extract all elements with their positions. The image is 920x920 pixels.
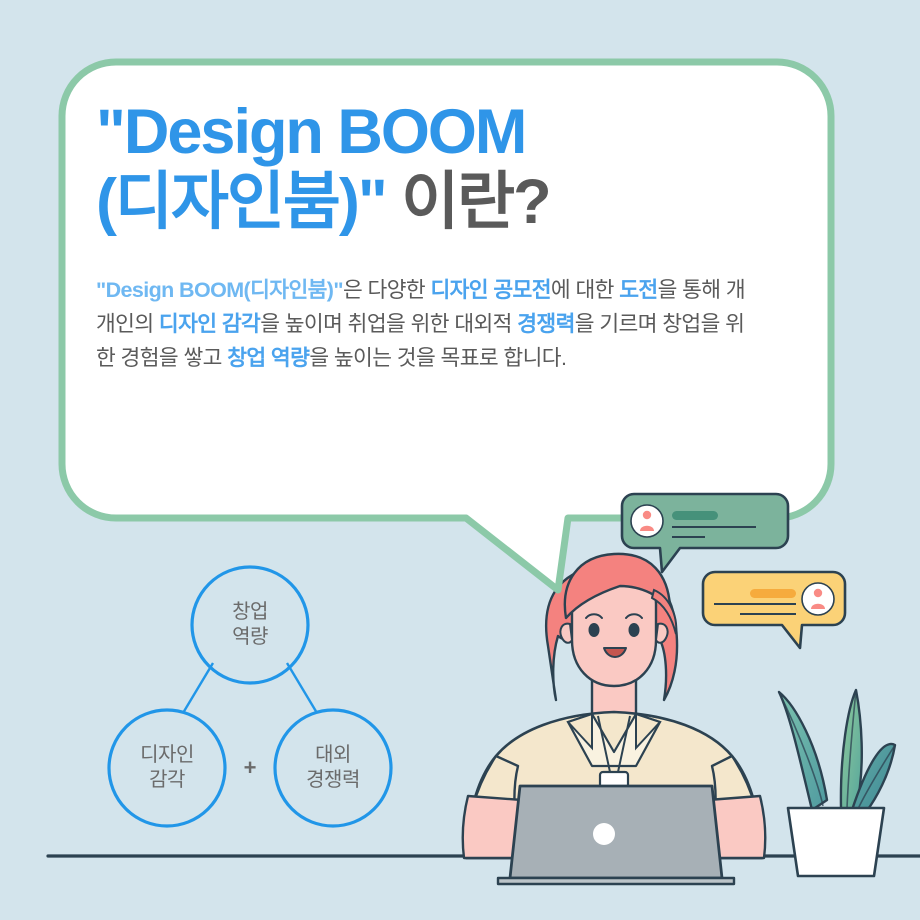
label-design-sense-line1: 디자인 bbox=[107, 743, 227, 768]
page-title-line2: (디자인붐)" 이란? bbox=[96, 170, 760, 234]
body-paragraph: "Design BOOM(디자인붐)"은 다양한 디자인 공모전에 대한 도전을… bbox=[96, 273, 751, 375]
label-startup-capability-line2: 역량 bbox=[190, 625, 310, 650]
label-startup-capability: 창업 역량 bbox=[190, 600, 310, 650]
body-seg-4: 에 대한 bbox=[551, 278, 619, 302]
page-title: "Design BOOM bbox=[96, 100, 760, 164]
label-design-sense: 디자인 감각 bbox=[107, 743, 227, 793]
label-external-competitiveness-line1: 대외 bbox=[273, 743, 393, 768]
title-quote-open: " bbox=[96, 97, 124, 167]
title-quote-close: " bbox=[358, 167, 386, 237]
capability-diagram: 창업 역량 디자인 감각 대외 경쟁력 + bbox=[90, 555, 420, 845]
eye-left bbox=[589, 623, 600, 637]
body-seg-challenge: 도전 bbox=[619, 278, 657, 302]
card-content: "Design BOOM (디자인붐)" 이란? "Design BOOM(디자… bbox=[96, 100, 760, 375]
title-suffix: 이란? bbox=[401, 167, 549, 237]
body-seg-design-contest: 디자인 공모전 bbox=[430, 278, 550, 302]
label-startup-capability-line1: 창업 bbox=[190, 600, 310, 625]
body-seg-12: 을 높이는 것을 목표로 합니다. bbox=[309, 346, 566, 370]
connector-top-left bbox=[183, 663, 213, 713]
body-seg-design-sense: 디자인 감각 bbox=[159, 312, 260, 336]
label-external-competitiveness-line2: 경쟁력 bbox=[273, 768, 393, 793]
plus-operator: + bbox=[236, 755, 264, 781]
connector-top-right bbox=[287, 663, 317, 713]
body-seg-8: 을 높이며 취업을 위한 대외적 bbox=[260, 312, 517, 336]
potted-plant bbox=[779, 690, 895, 876]
body-seg-startup-capability: 창업 역량 bbox=[227, 346, 309, 370]
title-korean-brand: (디자인붐) bbox=[96, 167, 358, 237]
poster-canvas: "Design BOOM (디자인붐)" 이란? "Design BOOM(디자… bbox=[0, 0, 920, 920]
body-seg-2: 은 다양한 bbox=[343, 278, 430, 302]
body-seg-brand: "Design BOOM(디자인붐)" bbox=[96, 278, 343, 302]
eye-right bbox=[629, 623, 640, 637]
diagram-svg bbox=[90, 555, 420, 845]
label-external-competitiveness: 대외 경쟁력 bbox=[273, 743, 393, 793]
laptop-logo bbox=[593, 823, 615, 845]
title-brand: Design BOOM bbox=[124, 97, 526, 167]
laptop bbox=[498, 786, 734, 884]
label-design-sense-line2: 감각 bbox=[107, 768, 227, 793]
body-seg-competitiveness: 경쟁력 bbox=[517, 312, 575, 336]
